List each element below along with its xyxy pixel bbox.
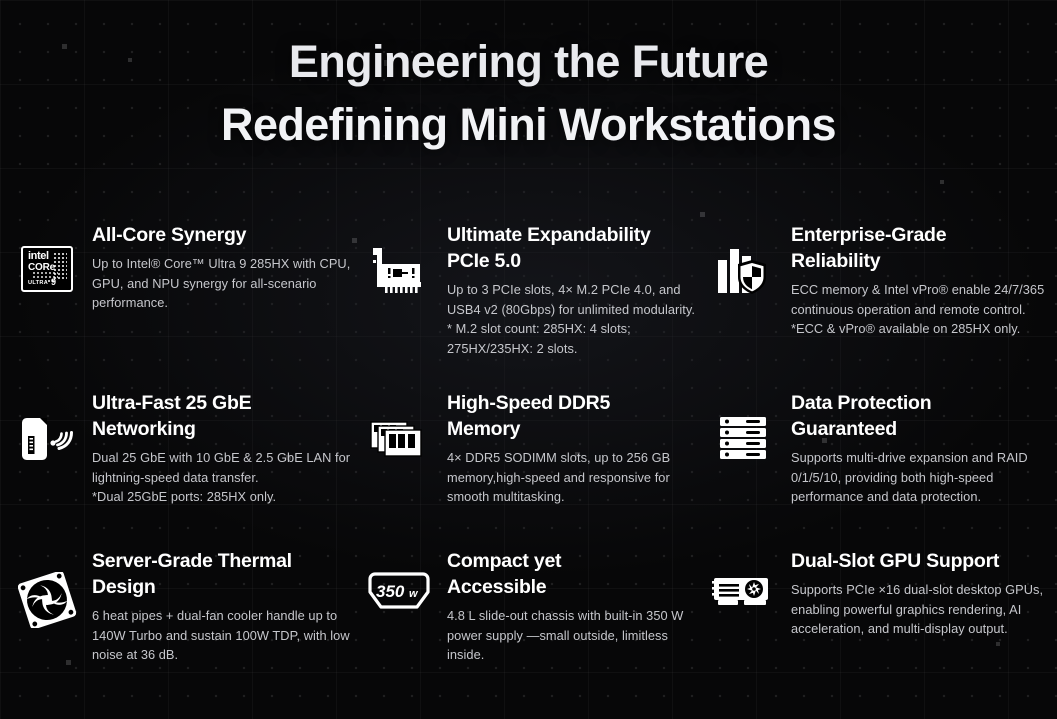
power-watts-unit: w [409,588,419,600]
feature-title: Server-Grade Thermal Design [92,548,364,600]
hero-heading: Engineering the Future Redefining Mini W… [0,30,1057,156]
intel-badge-dot-pattern [47,279,55,284]
power-supply-350w-badge-icon: 350 w [363,548,435,612]
feature-body: Supports multi-drive expansion and RAID … [791,448,1057,507]
bar-chart-shield-icon [707,222,779,296]
feature-body: 4.8 L slide-out chassis with built-in 35… [447,606,708,665]
hero-line-1: Engineering the Future [0,30,1057,93]
feature-title: Data Protection Guaranteed [791,390,1057,442]
feature-title: High-Speed DDR5 Memory [447,390,708,442]
intel-core-ultra-9-badge-icon: intel CORe ULTRA 9 [14,222,80,292]
pcie-expansion-card-icon [363,222,435,298]
intel-badge-dot-pattern [32,271,58,279]
network-module-wireless-icon [14,390,80,464]
hero-line-2: Redefining Mini Workstations [0,93,1057,156]
server-storage-rack-icon [707,390,779,462]
feature-body: 4× DDR5 SODIMM slots, up to 256 GB memor… [447,448,708,507]
feature-title: Enterprise-Grade Reliability [791,222,1057,274]
feature-body: ECC memory & Intel vPro® enable 24/7/365… [791,280,1057,339]
feature-title: Dual-Slot GPU Support [791,548,1057,574]
feature-row: Ultra-Fast 25 GbE Networking Dual 25 GbE… [0,390,1057,548]
feature-body: Up to Intel® Core™ Ultra 9 285HX with CP… [92,254,364,313]
graphics-card-icon [707,548,779,614]
feature-body: Supports PCIe ×16 dual-slot desktop GPUs… [791,580,1057,639]
feature-row: Server-Grade Thermal Design 6 heat pipes… [0,548,1057,698]
feature-title: All-Core Synergy [92,222,364,248]
feature-body: 6 heat pipes + dual-fan cooler handle up… [92,606,364,665]
feature-compact-accessible: 350 w Compact yet Accessible 4.8 L slide… [363,548,708,665]
feature-grid: intel CORe ULTRA 9 All-Core Synergy Up t… [0,222,1057,698]
background-speck [940,180,944,184]
feature-ultra-fast-networking: Ultra-Fast 25 GbE Networking Dual 25 GbE… [14,390,364,507]
feature-dual-slot-gpu: Dual-Slot GPU Support Supports PCIe ×16 … [707,548,1057,639]
feature-body: Dual 25 GbE with 10 GbE & 2.5 GbE LAN fo… [92,448,364,507]
feature-all-core-synergy: intel CORe ULTRA 9 All-Core Synergy Up t… [14,222,364,313]
feature-enterprise-grade-reliability: Enterprise-Grade Reliability ECC memory … [707,222,1057,339]
power-watts-value: 350 [376,582,405,601]
marketing-slide: Engineering the Future Redefining Mini W… [0,0,1057,719]
feature-title: Compact yet Accessible [447,548,708,600]
feature-high-speed-ddr5: High-Speed DDR5 Memory 4× DDR5 SODIMM sl… [363,390,708,507]
feature-data-protection: Data Protection Guaranteed Supports mult… [707,390,1057,507]
feature-ultimate-expandability: Ultimate Expandability PCIe 5.0 Up to 3 … [363,222,708,358]
stacked-memory-modules-icon [363,390,435,462]
background-speck [700,212,705,217]
cooling-fan-icon [14,548,80,628]
feature-body: Up to 3 PCIe slots, 4× M.2 PCIe 4.0, and… [447,280,708,358]
feature-thermal-design: Server-Grade Thermal Design 6 heat pipes… [14,548,364,665]
feature-title: Ultimate Expandability PCIe 5.0 [447,222,708,274]
feature-row: intel CORe ULTRA 9 All-Core Synergy Up t… [0,222,1057,390]
intel-badge-tier: ULTRA [28,280,48,286]
feature-title: Ultra-Fast 25 GbE Networking [92,390,364,442]
